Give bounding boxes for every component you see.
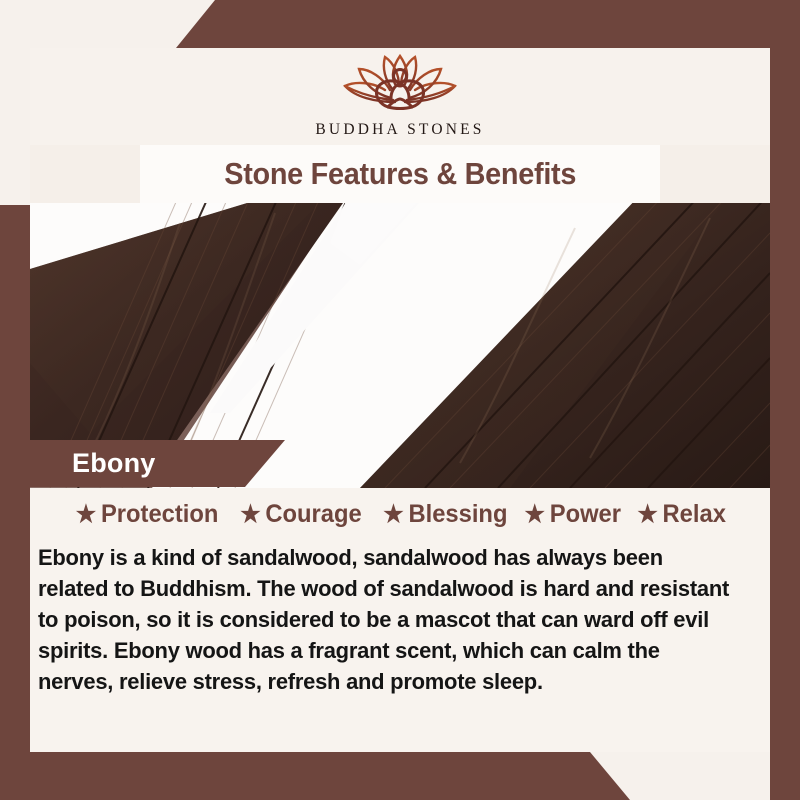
star-icon: ★ [637,503,657,527]
lotus-meditation-figure-icon [325,50,475,120]
material-name-label: Ebony [72,448,156,479]
content-card: BUDDHA STONES Stone Features & Benefits [30,48,770,752]
feature-item-blessing: ★ Blessing [384,500,508,529]
infographic-page: BUDDHA STONES Stone Features & Benefits [0,0,800,800]
star-icon: ★ [76,503,96,527]
brand-header: BUDDHA STONES [30,48,770,145]
star-icon: ★ [241,503,261,527]
frame-left-bar [0,205,30,800]
feature-list: ★ Protection ★ Courage ★ Blessing ★ Powe… [30,500,770,529]
frame-top-bar [0,0,800,48]
feature-item-power: ★ Power [525,500,621,529]
feature-item-protection: ★ Protection [76,500,219,529]
feature-item-courage: ★ Courage [241,500,363,529]
frame-bottom-bar [0,752,800,800]
brand-name: BUDDHA STONES [315,121,484,139]
star-icon: ★ [384,503,404,527]
frame-right-bar [770,0,800,800]
feature-label: Power [550,500,621,529]
material-name-banner: Ebony [30,440,285,487]
feature-item-relax: ★ Relax [637,500,726,529]
feature-label: Courage [266,500,362,529]
feature-label: Protection [101,500,218,529]
feature-label: Blessing [409,500,508,529]
title-band: Stone Features & Benefits [140,145,660,203]
description-text: Ebony is a kind of sandalwood, sandalwoo… [38,542,738,697]
star-icon: ★ [525,503,545,527]
feature-label: Relax [662,500,725,529]
page-title: Stone Features & Benefits [224,156,576,192]
